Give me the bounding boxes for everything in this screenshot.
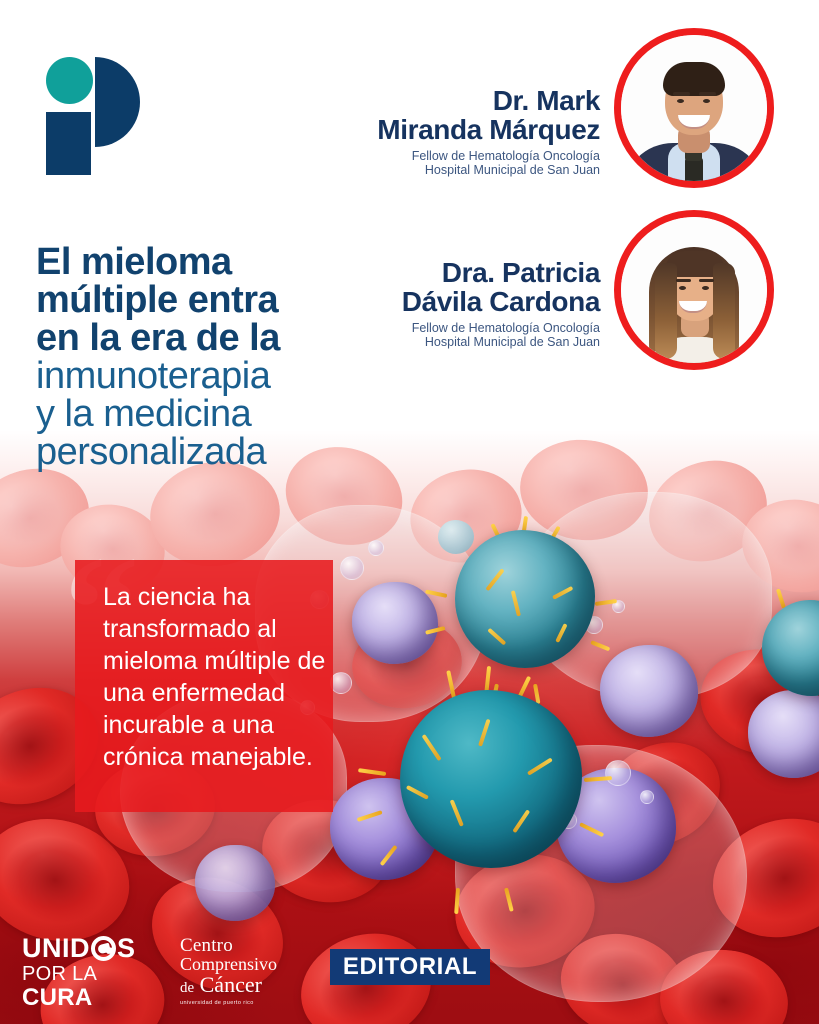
doctor-portrait-patricia-davila (614, 210, 774, 370)
quote-text: La ciencia ha transformado al mieloma mú… (103, 581, 335, 773)
ccc-line-1: Centro (180, 936, 305, 955)
vesicle (340, 556, 364, 580)
portrait-eye-right (703, 99, 710, 103)
myeloma-cell (352, 582, 438, 664)
unidos-por-la: POR LA (22, 963, 96, 985)
ccc-cancer: Cáncer (200, 972, 262, 997)
portrait-eyebrow-right (699, 279, 714, 282)
editorial-badge[interactable]: EDITORIAL (330, 949, 490, 985)
myeloma-cell (600, 645, 698, 737)
doctor-name-line-2: Dávila Cardona (300, 287, 600, 316)
portrait-eye-left (679, 286, 686, 290)
immune-cell-group (455, 530, 595, 670)
unidos-text-before-o: UNID (22, 934, 90, 962)
immune-cell-group (762, 600, 819, 698)
unidos-line-2: POR LA CURA (22, 963, 172, 1011)
vesicle (640, 790, 654, 804)
portrait-hair-strand-left (655, 263, 677, 359)
vesicle (605, 760, 631, 786)
doctor-info-patricia-davila: Dra. Patricia Dávila Cardona Fellow de H… (300, 258, 600, 349)
logo-stem-shape (46, 112, 91, 175)
doctor-name-line-1: Dra. Patricia (300, 258, 600, 287)
portrait-tie (685, 157, 703, 188)
doctor-name-line-2: Miranda Márquez (300, 115, 600, 144)
portrait-eye-right (702, 286, 709, 290)
hand-in-letter-o-icon (91, 936, 116, 961)
portrait-hair (663, 62, 725, 96)
logo-bowl-shape (95, 57, 140, 147)
ccc-line-3: de Cáncer (180, 974, 305, 999)
unidos-text-after-o: S (117, 934, 136, 962)
portrait-eye-left (677, 99, 684, 103)
portrait-eyebrow-left (676, 279, 691, 282)
doctor-info-mark-miranda: Dr. Mark Miranda Márquez Fellow de Hemat… (300, 86, 600, 177)
myeloma-cell (195, 845, 275, 921)
doctor-role-line-2: Hospital Municipal de San Juan (300, 335, 600, 349)
editorial-label: EDITORIAL (343, 953, 477, 981)
headline-line-5: y la medicina (36, 395, 366, 433)
hand-shape (97, 942, 111, 954)
unidos-line-1: UNID S (22, 934, 172, 962)
portrait-eyebrow-right (699, 92, 716, 96)
centro-comprensivo-de-cancer-logo[interactable]: Centro Comprensivo de Cáncer universidad… (180, 936, 305, 1006)
immune-cell-group (400, 690, 585, 870)
immune-cell (762, 600, 819, 696)
headline-line-6: personalizada (36, 433, 366, 471)
immune-cell (400, 690, 582, 868)
logo-dot-shape (46, 57, 93, 104)
headline-line-4: inmunoterapia (36, 357, 366, 395)
doctor-name-line-1: Dr. Mark (300, 86, 600, 115)
portrait-eyebrow-left (673, 92, 690, 96)
doctor-role-line-1: Fellow de Hematología Oncología (300, 149, 600, 163)
ip-logo-icon (40, 55, 160, 165)
unidos-por-la-cura-logo[interactable]: UNID S POR LA CURA (22, 934, 172, 1011)
ccc-de: de (180, 980, 194, 996)
ccc-university-line: universidad de puerto rico (180, 1000, 305, 1006)
portrait-hair-strand-right (713, 263, 735, 359)
poster-root: El mieloma múltiple entra en la era de l… (0, 0, 819, 1024)
unidos-cura: CURA (22, 984, 93, 1011)
immune-cell (455, 530, 595, 668)
doctor-role-line-2: Hospital Municipal de San Juan (300, 163, 600, 177)
doctor-role-line-1: Fellow de Hematología Oncología (300, 321, 600, 335)
vesicle (368, 540, 384, 556)
doctor-portrait-mark-miranda (614, 28, 774, 188)
